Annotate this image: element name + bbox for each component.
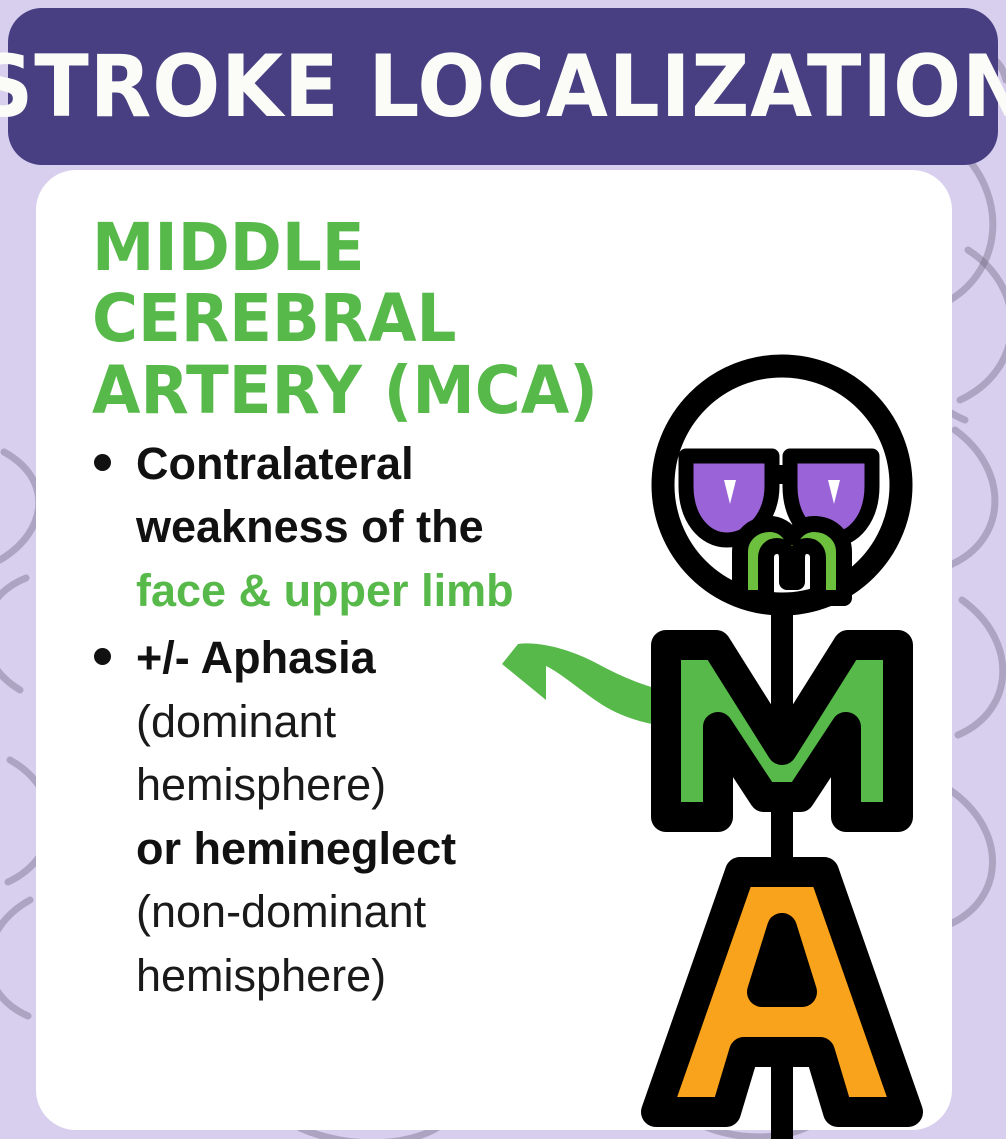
infographic-canvas: STROKE LOCALIZATION MIDDLE CEREBRAL ARTE… xyxy=(0,0,1006,1139)
header-banner: STROKE LOCALIZATION xyxy=(8,8,998,165)
bullet-dot-icon xyxy=(94,454,111,471)
bullet-2-line-5: (non-dominant xyxy=(136,880,606,943)
bullet-2-line-4: or hemineglect xyxy=(136,817,606,880)
list-item: Contralateral weakness of the face & upp… xyxy=(86,432,606,622)
bullet-dot-icon xyxy=(94,648,111,665)
bullet-1-line-2: weakness of the xyxy=(136,495,606,558)
figure-mouth-letter-m xyxy=(740,524,844,598)
mca-stick-figure xyxy=(632,352,962,1127)
page-title: STROKE LOCALIZATION xyxy=(0,44,1006,130)
bullet-2-line-6: hemisphere) xyxy=(136,944,606,1007)
section-heading: MIDDLE CEREBRAL ARTERY (MCA) xyxy=(92,212,681,426)
section-heading-line-2: ARTERY (MCA) xyxy=(92,355,681,426)
bullet-2-line-3: hemisphere) xyxy=(136,753,606,816)
section-heading-line-1: MIDDLE CEREBRAL xyxy=(92,212,681,355)
bullet-1-line-1: Contralateral xyxy=(136,432,606,495)
bullet-1-line-3-highlight: face & upper limb xyxy=(136,559,606,622)
